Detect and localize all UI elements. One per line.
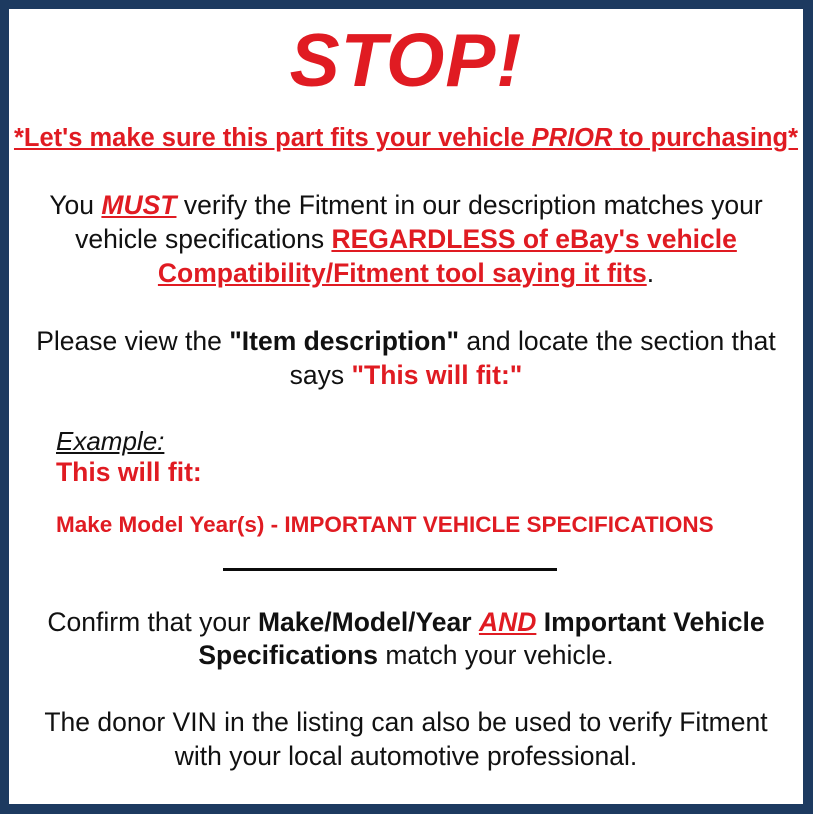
must-emphasis: MUST <box>101 190 176 220</box>
this-will-fit-quote: "This will fit:" <box>351 360 522 390</box>
stop-headline: STOP! <box>9 23 803 98</box>
thank-you-line: Thank you for confirming Fitment! <box>9 799 803 804</box>
subtitle-text-after: to purchasing* <box>612 124 798 152</box>
horizontal-divider <box>223 568 557 571</box>
paragraph-must-verify-fitment: You MUST verify the Fitment in our descr… <box>9 189 803 291</box>
example-label: Example: <box>56 427 803 456</box>
example-block: Example: This will fit: Make Model Year(… <box>9 427 803 538</box>
subtitle-text-before: *Let's make sure this part fits your veh… <box>14 124 532 152</box>
notice-card: STOP! *Let's make sure this part fits yo… <box>9 9 803 804</box>
confirm-text-7: match your vehicle. <box>378 640 614 670</box>
must-text-5: . <box>647 258 654 288</box>
confirm-space-2 <box>536 607 543 637</box>
paragraph-donor-vin: The donor VIN in the listing can also be… <box>9 706 803 774</box>
view-text-1: Please view the <box>36 326 229 356</box>
divider-wrapper <box>9 562 803 576</box>
item-description-bold: "Item description" <box>229 326 459 356</box>
confirm-text-1: Confirm that your <box>47 607 258 637</box>
notice-border-frame: STOP! *Let's make sure this part fits yo… <box>0 0 813 814</box>
paragraph-view-item-description: Please view the "Item description" and l… <box>9 325 803 393</box>
example-specification-line: Make Model Year(s) - IMPORTANT VEHICLE S… <box>56 512 803 538</box>
make-model-year-bold: Make/Model/Year <box>258 607 472 637</box>
confirm-space-1 <box>472 607 479 637</box>
and-emphasis: AND <box>479 607 536 637</box>
must-text-1: You <box>49 190 101 220</box>
example-this-will-fit-line: This will fit: <box>56 457 803 488</box>
subtitle-emphasis-prior: PRIOR <box>532 124 613 152</box>
subtitle-line: *Let's make sure this part fits your veh… <box>9 124 803 153</box>
paragraph-confirm-match: Confirm that your Make/Model/Year AND Im… <box>9 606 803 674</box>
